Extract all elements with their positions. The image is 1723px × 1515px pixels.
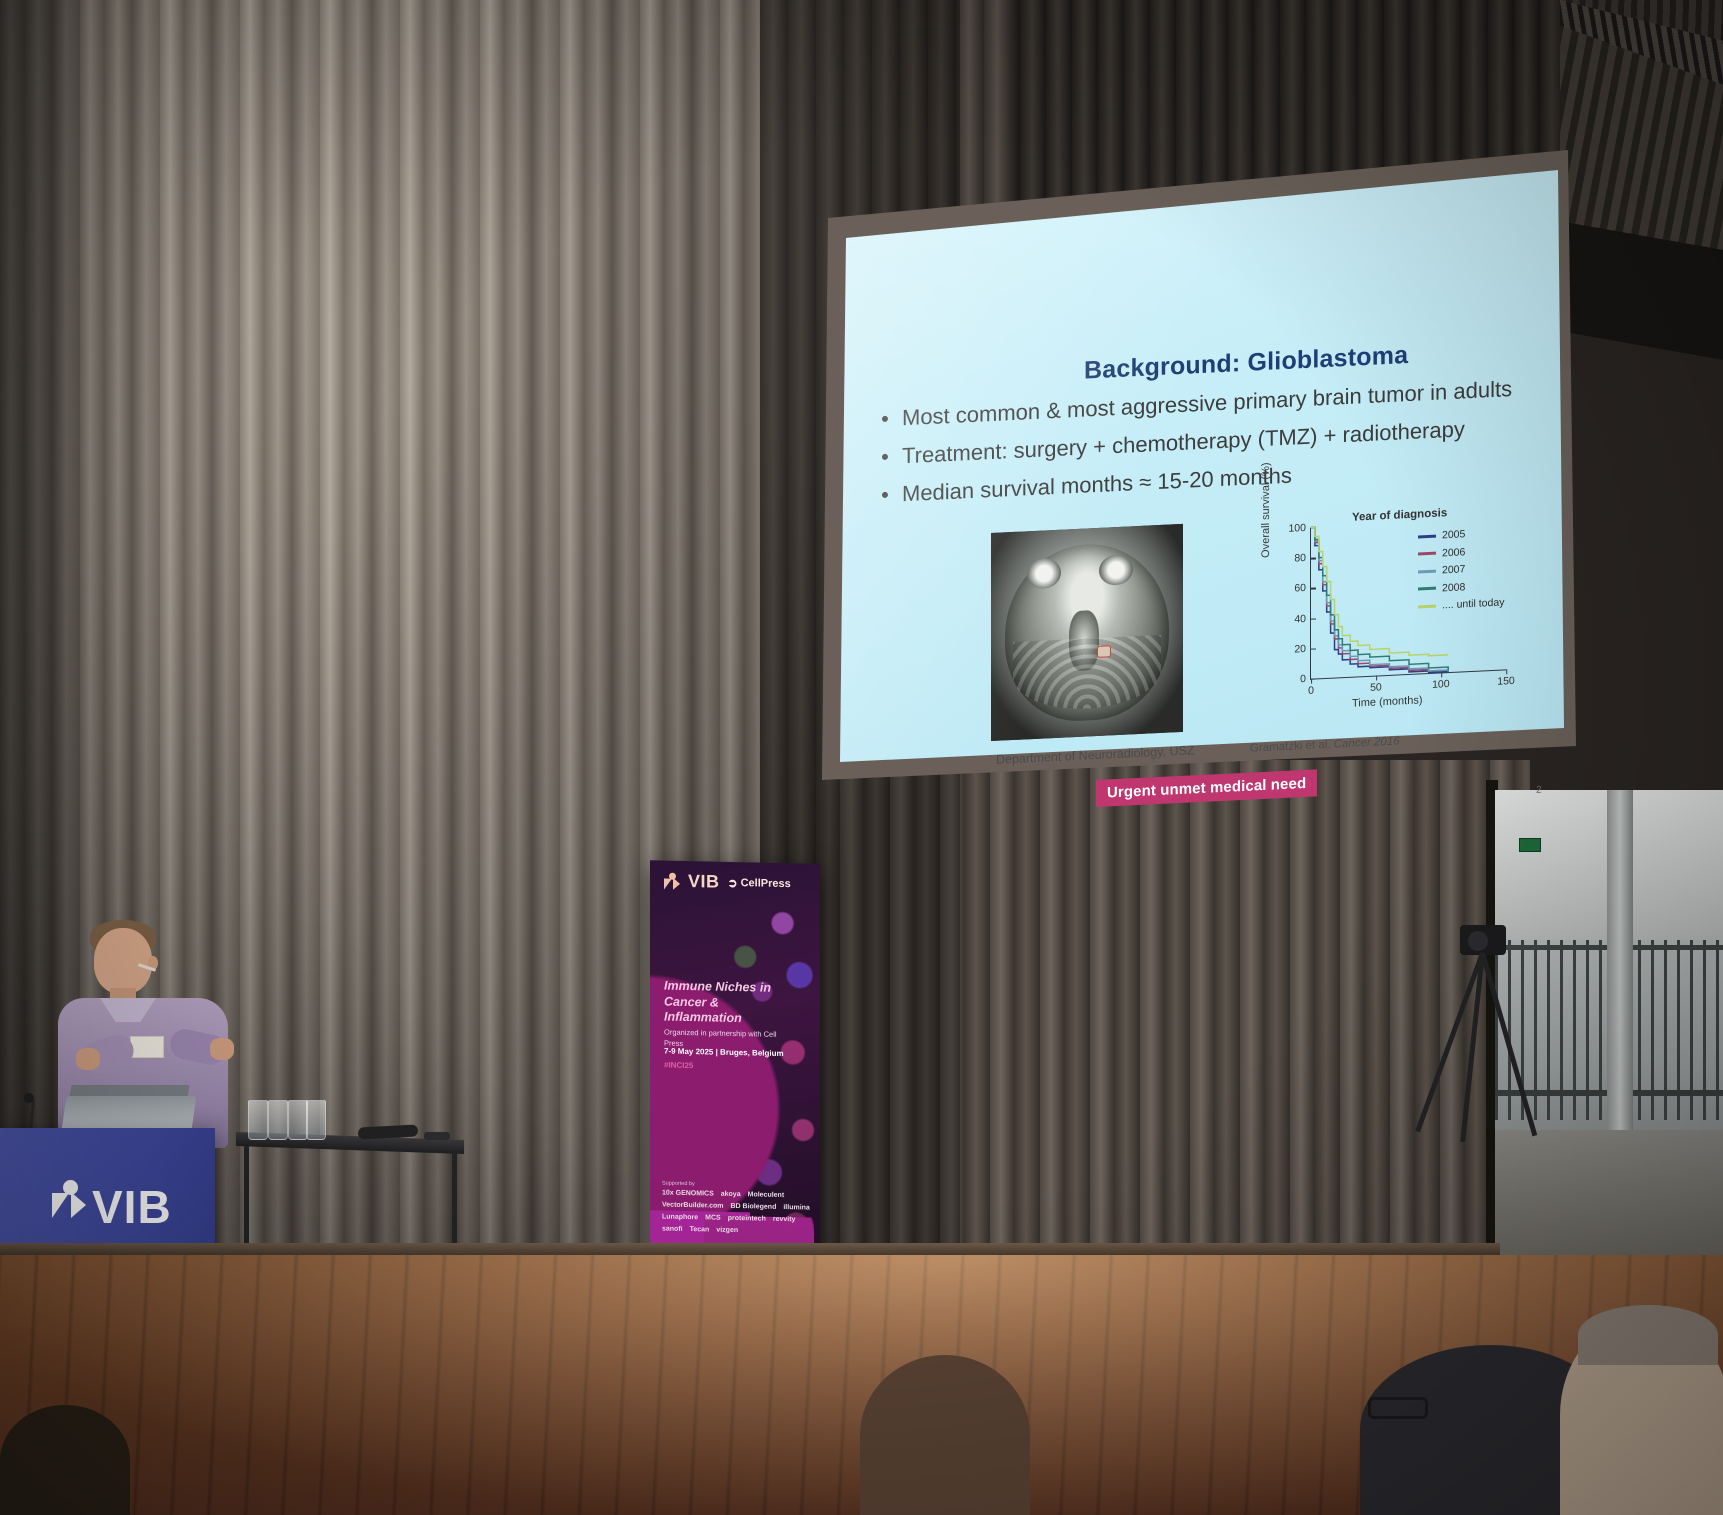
- laptop-keyboard[interactable]: [62, 1096, 197, 1130]
- chart-legend-item: 2006: [1418, 542, 1534, 560]
- tripod-leg: [1480, 952, 1537, 1136]
- glass: [268, 1100, 288, 1140]
- legend-swatch-icon: [1418, 552, 1436, 556]
- sponsor-logo: akoya: [721, 1191, 741, 1198]
- chart-ytick: 80: [1294, 552, 1311, 565]
- water-glasses: [248, 1098, 328, 1140]
- sponsor-logo: VectorBuilder.com: [662, 1201, 723, 1209]
- exit-sign-icon: [1519, 838, 1541, 852]
- lectern-wordmark: VIB: [92, 1180, 172, 1234]
- legend-label: 2007: [1442, 563, 1465, 576]
- chart-ylabel: Overall survival (%): [1260, 462, 1272, 558]
- legend-swatch-icon: [1418, 534, 1436, 538]
- chart-legend-item: 2007: [1418, 560, 1534, 578]
- vib-logo-icon: [664, 872, 680, 890]
- microphone-icon: [24, 1093, 34, 1103]
- sponsor-logo: MCS: [705, 1214, 721, 1221]
- cellpress-logo: ➲ CellPress: [728, 875, 791, 890]
- sponsor-logo: revvity: [773, 1216, 796, 1223]
- legend-label: 2008: [1442, 581, 1465, 594]
- bullet-marker-icon: •: [880, 482, 890, 508]
- camera-icon: [1460, 925, 1506, 955]
- sponsor-logo: 10x GENOMICS: [662, 1189, 714, 1197]
- chart-ytick: 60: [1294, 582, 1311, 595]
- chart-ytick: 20: [1294, 642, 1311, 655]
- banner-title: Immune Niches in Cancer & Inflammation: [664, 979, 780, 1028]
- audience-head: [860, 1355, 1030, 1515]
- legend-swatch-icon: [1418, 569, 1436, 573]
- legend-label: 2006: [1442, 546, 1465, 559]
- chart-xtick: 50: [1370, 675, 1382, 694]
- bullet-text: Median survival months ≈ 15-20 months: [902, 463, 1292, 508]
- chart-xtick: 0: [1308, 679, 1314, 697]
- audience-head: [0, 1405, 130, 1515]
- cellpress-mark-icon: ➲: [728, 875, 738, 889]
- mri-brain-image: [991, 524, 1183, 741]
- legend-swatch-icon: [1418, 587, 1436, 591]
- camera-lens-icon: [1468, 931, 1488, 951]
- auditorium-scene: Background: Glioblastoma • Most common &…: [0, 0, 1723, 1515]
- slide-page-number: 2: [1536, 785, 1542, 796]
- legend-label: 2005: [1442, 528, 1465, 541]
- chart-ytick: 40: [1294, 612, 1311, 625]
- chart-legend-item: 2008: [1418, 577, 1534, 595]
- chart-legend-item: .... until today: [1418, 595, 1534, 613]
- banner-logo-group: VIB ➲ CellPress: [664, 871, 791, 895]
- name-badge: [130, 1036, 164, 1058]
- survival-chart: Year of diagnosis Overall survival (%) 1…: [1266, 503, 1534, 734]
- speaker-head: [94, 928, 152, 994]
- chart-xtick: 100: [1432, 672, 1450, 691]
- sponsor-logo: Tecan: [690, 1226, 710, 1233]
- vib-logo-icon: [52, 1180, 86, 1220]
- presentation-clicker[interactable]: [424, 1132, 450, 1140]
- chart-xtick: 150: [1497, 669, 1515, 688]
- audience-hair: [1578, 1305, 1718, 1365]
- sponsor-logo: proteintech: [728, 1215, 766, 1223]
- banner-hashtag: #INCI25: [664, 1061, 693, 1071]
- sponsor-logo: sanofi: [662, 1225, 683, 1232]
- chart-xlabel: Time (months): [1352, 694, 1423, 709]
- sponsor-logo-row: 10x GENOMICSakoyaMoleculentVectorBuilder…: [662, 1189, 812, 1235]
- credit-author: Gramatzki et al.: [1250, 739, 1331, 755]
- eyeglasses-icon: [1368, 1397, 1428, 1419]
- event-banner: VIB ➲ CellPress Immune Niches in Cancer …: [650, 860, 820, 1294]
- chart-legend: 2005200620072008.... until today: [1418, 525, 1534, 618]
- slide-bullet-list: • Most common & most aggressive primary …: [880, 374, 1556, 520]
- legend-label: .... until today: [1442, 596, 1504, 611]
- projection-screen: Background: Glioblastoma • Most common &…: [818, 150, 1578, 790]
- speaker-hand-right: [210, 1038, 234, 1060]
- mri-caption: Department of Neuroradiology, USZ: [996, 740, 1256, 766]
- callout-badge: Urgent unmet medical need: [1096, 769, 1317, 807]
- cellpress-wordmark: CellPress: [741, 877, 791, 890]
- credit-journal: Cancer 2016: [1334, 735, 1400, 750]
- sponsor-logo: Moleculent: [748, 1191, 785, 1199]
- sponsor-logo: BD Biolegend: [730, 1203, 776, 1211]
- chart-ytick: 100: [1288, 522, 1311, 535]
- tumor-marker-icon: [1097, 645, 1111, 658]
- glass: [248, 1100, 268, 1140]
- bullet-marker-icon: •: [880, 406, 890, 432]
- speaker-hand-left: [76, 1048, 100, 1070]
- sponsor-logo: vizgen: [716, 1227, 738, 1234]
- camera-tripod: [1430, 925, 1550, 1155]
- legend-swatch-icon: [1418, 604, 1436, 608]
- sponsor-logo: illumina: [783, 1204, 809, 1212]
- chart-credit: Gramatzki et al. Cancer 2016: [1250, 735, 1400, 754]
- glass: [306, 1100, 326, 1140]
- banner-sponsors: Supported by 10x GENOMICSakoyaMoleculent…: [662, 1180, 812, 1235]
- vib-wordmark: VIB: [688, 871, 720, 893]
- bullet-marker-icon: •: [880, 444, 890, 470]
- glass: [288, 1100, 308, 1140]
- sponsor-logo: Lunaphore: [662, 1213, 698, 1221]
- presentation-slide: Background: Glioblastoma • Most common &…: [846, 206, 1564, 840]
